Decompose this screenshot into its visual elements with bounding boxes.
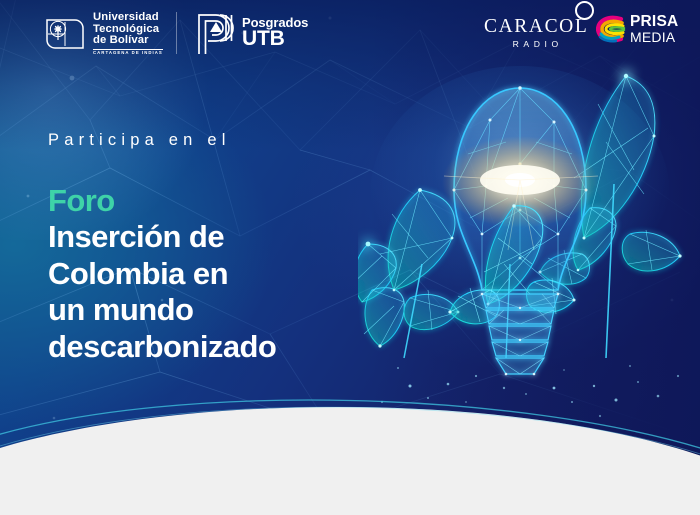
utb-subtitle: CARTAGENA DE INDIAS (93, 51, 163, 55)
caracol-subtitle: RADIO (484, 39, 588, 49)
rainbow-swirl-icon (596, 13, 626, 45)
headline-block: Participa en el Foro Inserción de Colomb… (48, 131, 368, 365)
bottom-curve-panel (0, 385, 700, 515)
prisa-line1: PRISA (630, 14, 678, 30)
title-line-4: descarbonizado (48, 329, 368, 365)
prisa-media-logo[interactable]: PRISA MEDIA (596, 13, 678, 45)
utb-line3: de Bolívar (93, 35, 163, 47)
kicker-text: Participa en el (48, 131, 368, 150)
logo-divider (176, 12, 177, 54)
utb-wordmark: Universidad Tecnológica de Bolívar CARTA… (93, 12, 163, 55)
utb-logo[interactable]: Universidad Tecnológica de Bolívar CARTA… (44, 12, 163, 55)
title-line-3: un mundo (48, 292, 368, 328)
event-title: Foro Inserción de Colombia en un mundo d… (48, 183, 368, 365)
title-line-2: Colombia en (48, 256, 368, 292)
caracol-word: CARACOL (484, 16, 588, 37)
prisa-wordmark: PRISA MEDIA (630, 14, 678, 44)
title-line-1: Inserción de (48, 219, 368, 255)
caracol-radio-logo[interactable]: CARACOL RADIO (484, 16, 588, 49)
low-poly-lightbulb-with-leaves (358, 58, 700, 428)
posgrados-line2: UTB (242, 29, 308, 49)
logo-bar: Universidad Tecnológica de Bolívar CARTA… (0, 0, 700, 72)
caracol-circle-ring-icon (575, 1, 594, 20)
posgrados-wordmark: Posgrados UTB (242, 17, 308, 50)
bulb-base (481, 293, 560, 376)
stylized-p-monogram-icon (196, 11, 236, 55)
promo-banner: Universidad Tecnológica de Bolívar CARTA… (0, 0, 700, 515)
caracol-wordmark: CARACOL (484, 16, 588, 38)
palm-tree-emblem-icon (44, 13, 86, 55)
utb-line1: Universidad (93, 12, 163, 24)
posgrados-utb-logo[interactable]: Posgrados UTB (196, 11, 308, 55)
prisa-line2: MEDIA (630, 30, 678, 44)
title-accent-foro: Foro (48, 183, 368, 219)
